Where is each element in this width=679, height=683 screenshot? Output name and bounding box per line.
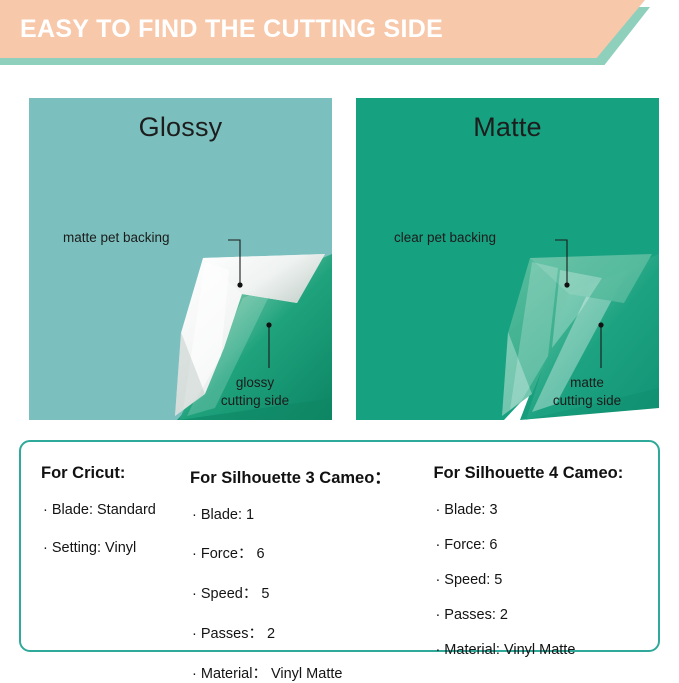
matte-cutting-label-line1: matte (532, 374, 642, 392)
settings-column-silhouette-4: For Silhouette 4 Cameo: · Blade: 3 · For… (433, 464, 658, 650)
list-item: · Speed: 5 (433, 572, 658, 588)
list-item: · Passes: 2 (433, 607, 658, 623)
silhouette-3-heading: For Silhouette 3 Cameo： (190, 464, 433, 488)
settings-column-silhouette-3: For Silhouette 3 Cameo： · Blade: 1 · For… (190, 464, 433, 650)
glossy-peel-illustration (29, 98, 332, 420)
settings-column-cricut: For Cricut: · Blade: Standard · Setting:… (21, 464, 190, 650)
glossy-cutting-label-line1: glossy (200, 374, 310, 392)
header-banner: EASY TO FIND THE CUTTING SIDE (0, 0, 679, 72)
banner-foreground-shape: EASY TO FIND THE CUTTING SIDE (0, 0, 645, 58)
panel-glossy: Glossy (29, 98, 332, 420)
settings-columns: For Cricut: · Blade: Standard · Setting:… (21, 442, 658, 650)
silhouette-4-heading: For Silhouette 4 Cameo: (433, 464, 658, 483)
list-item: · Passes： 2 (190, 622, 433, 643)
list-item: · Setting: Vinyl (41, 540, 190, 556)
glossy-cutting-side-label: glossy cutting side (200, 374, 310, 410)
list-item: · Blade: 3 (433, 502, 658, 518)
list-item: · Blade: Standard (41, 502, 190, 518)
list-item: · Force： 6 (190, 542, 433, 563)
matte-cutting-label-line2: cutting side (532, 392, 642, 410)
comparison-panels: Glossy (0, 98, 679, 420)
cricut-heading: For Cricut: (41, 464, 190, 483)
matte-peel-illustration (356, 98, 659, 420)
glossy-cutting-label-line2: cutting side (200, 392, 310, 410)
list-item: · Speed： 5 (190, 582, 433, 603)
panel-matte: Matte (356, 98, 659, 420)
list-item: · Material： Vinyl Matte (190, 662, 433, 683)
list-item: · Force: 6 (433, 537, 658, 553)
settings-info-box: For Cricut: · Blade: Standard · Setting:… (19, 440, 660, 652)
matte-cutting-side-label: matte cutting side (532, 374, 642, 410)
page-title: EASY TO FIND THE CUTTING SIDE (0, 15, 443, 44)
glossy-backing-label: matte pet backing (63, 229, 170, 247)
list-item: · Blade: 1 (190, 507, 433, 523)
matte-backing-label: clear pet backing (394, 229, 496, 247)
list-item: · Material: Vinyl Matte (433, 642, 658, 658)
